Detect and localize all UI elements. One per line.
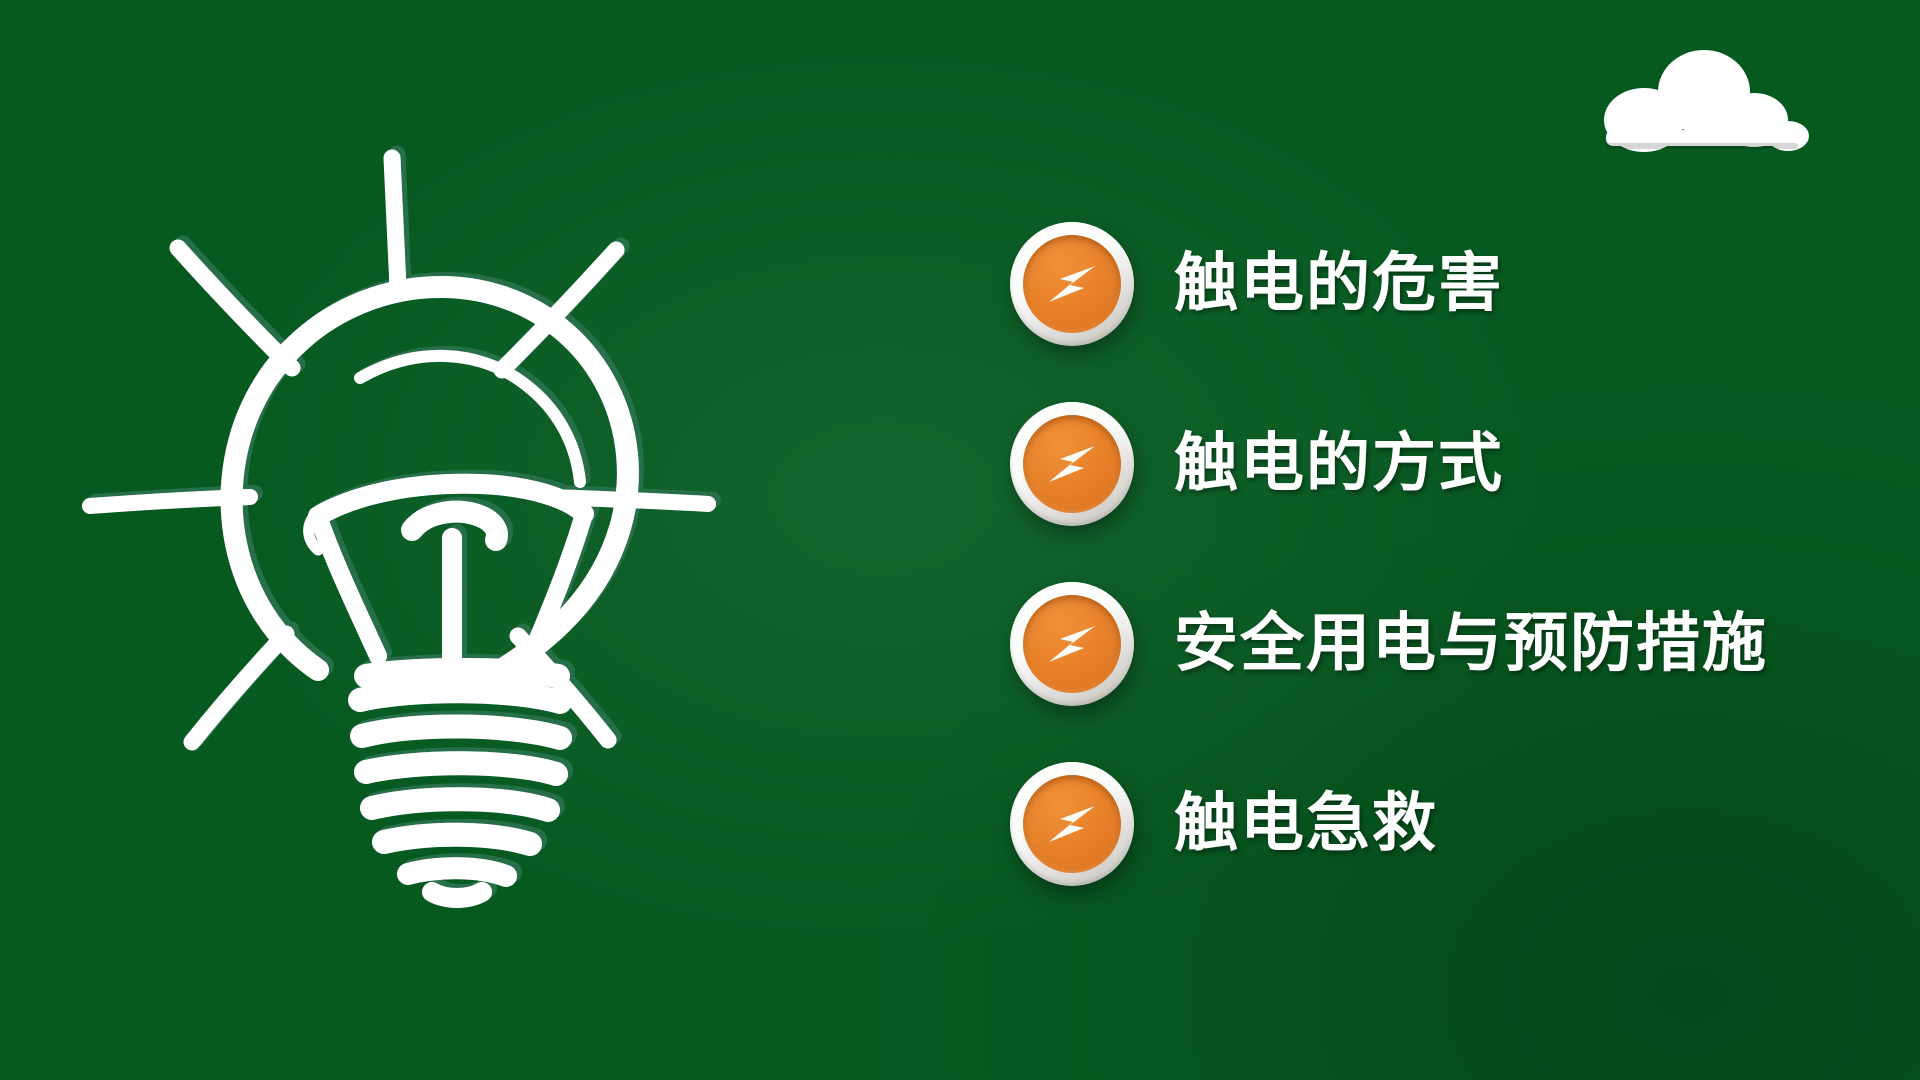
bolt-glyph <box>1037 249 1107 319</box>
agenda-item-3[interactable]: 安全用电与预防措施 <box>1010 582 1890 706</box>
bolt-glyph <box>1037 609 1107 679</box>
lightning-bolt-icon <box>1010 222 1134 346</box>
slide-canvas: 触电的危害 触电的方式 安全用电与预防措施 <box>0 0 1920 1080</box>
agenda-item-label: 触电的危害 <box>1174 249 1504 318</box>
agenda-item-label: 触电的方式 <box>1174 429 1504 498</box>
lightning-bolt-icon <box>1010 762 1134 886</box>
lightning-bolt-icon <box>1010 402 1134 526</box>
lightbulb-icon <box>60 110 860 910</box>
agenda-item-2[interactable]: 触电的方式 <box>1010 402 1890 526</box>
bolt-glyph <box>1037 789 1107 859</box>
lightning-bolt-icon <box>1010 582 1134 706</box>
agenda-list: 触电的危害 触电的方式 安全用电与预防措施 <box>1010 222 1890 886</box>
agenda-item-1[interactable]: 触电的危害 <box>1010 222 1890 346</box>
bolt-glyph <box>1037 429 1107 499</box>
agenda-item-4[interactable]: 触电急救 <box>1010 762 1890 886</box>
agenda-item-label: 触电急救 <box>1174 789 1438 858</box>
agenda-item-label: 安全用电与预防措施 <box>1174 609 1768 678</box>
cloud-icon <box>1592 48 1812 152</box>
